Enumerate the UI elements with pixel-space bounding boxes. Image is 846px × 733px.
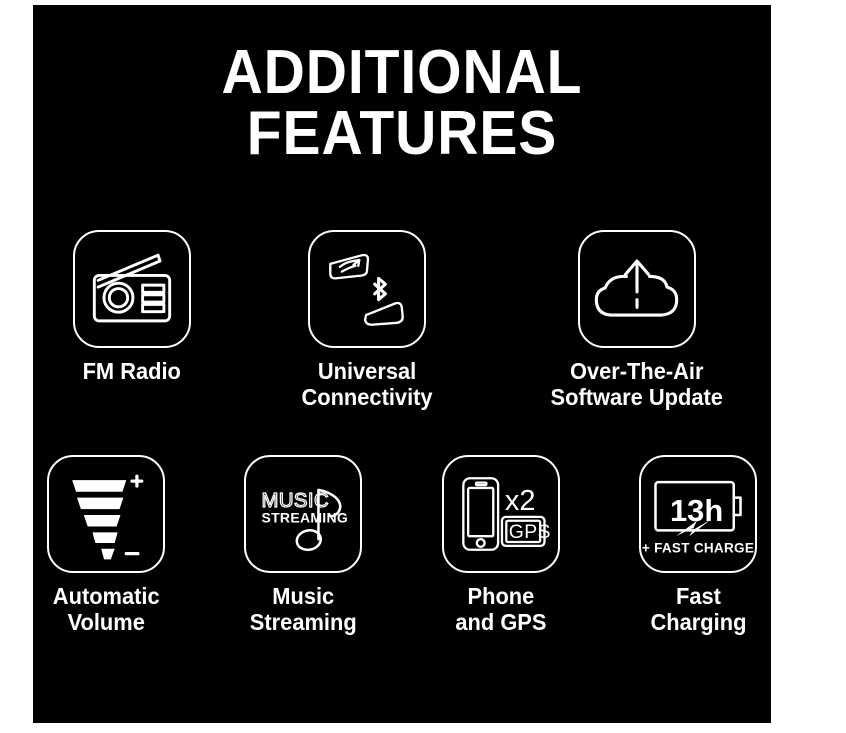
music-streaming-tile[interactable]: MUSIC STREAMING [244, 455, 362, 573]
music-note-icon: MUSIC STREAMING [246, 457, 360, 571]
volume-funnel-icon [49, 457, 163, 571]
fm-radio-icon [75, 232, 189, 346]
page-title: ADDITIONAL FEATURES [63, 43, 742, 165]
fast-charge-text: + FAST CHARGE [642, 541, 754, 556]
feature-label-ota-software-update: Over-The-Air Software Update [551, 359, 723, 411]
bluetooth-universal-connectivity-icon [310, 232, 424, 346]
feature-automatic-volume[interactable]: Automatic Volume [33, 455, 179, 636]
feature-label-fm-radio: FM Radio [83, 359, 181, 385]
phone-gps-label-text: GPS [508, 522, 550, 543]
feature-label-fast-charging: Fast Charging [650, 584, 746, 636]
page-title-line-2: FEATURES [63, 104, 742, 165]
feature-label-universal-connectivity: Universal Connectivity [301, 359, 432, 411]
feature-phone-and-gps[interactable]: x2 GPS Phone and GPS [428, 455, 574, 636]
feature-music-streaming[interactable]: MUSIC STREAMING Music Streaming [231, 455, 377, 636]
feature-fm-radio[interactable]: FM Radio [72, 230, 192, 411]
feature-label-line-2: and GPS [455, 610, 546, 636]
infographic-canvas: ADDITIONAL FEATURES [0, 0, 846, 733]
feature-label-line-2: Volume [52, 610, 159, 636]
universal-connectivity-tile[interactable] [308, 230, 426, 348]
feature-label-automatic-volume: Automatic Volume [52, 584, 159, 636]
feature-universal-connectivity[interactable]: Universal Connectivity [272, 230, 462, 411]
battery-hours-text: 13h [670, 493, 723, 528]
page-title-line-1: ADDITIONAL [63, 43, 742, 104]
feature-label-music-streaming: Music Streaming [250, 584, 357, 636]
feature-label-line-1: Universal [301, 359, 432, 385]
fast-charging-tile[interactable]: 13h + FAST CHARGE [639, 455, 757, 573]
feature-label-line-2: Streaming [250, 610, 357, 636]
feature-label-phone-and-gps: Phone and GPS [455, 584, 546, 636]
feature-row-2: Automatic Volume MUSIC STREAMING [33, 455, 771, 636]
fm-radio-tile[interactable] [73, 230, 191, 348]
music-icon-text-bottom: STREAMING [262, 510, 349, 526]
feature-label-line-1: Over-The-Air [551, 359, 723, 385]
cloud-upload-icon [580, 232, 694, 346]
ota-software-update-tile[interactable] [578, 230, 696, 348]
feature-fast-charging[interactable]: 13h + FAST CHARGE Fast Charging [626, 455, 772, 636]
feature-label-line-1: Fast [650, 584, 746, 610]
phone-gps-icon: x2 GPS [444, 457, 558, 571]
feature-panel: ADDITIONAL FEATURES [33, 5, 771, 723]
feature-label-line-1: FM Radio [83, 359, 181, 385]
feature-label-line-2: Connectivity [301, 385, 432, 411]
feature-label-line-2: Charging [650, 610, 746, 636]
feature-ota-software-update[interactable]: Over-The-Air Software Update [542, 230, 732, 411]
feature-label-line-2: Software Update [551, 385, 723, 411]
feature-label-line-1: Phone [455, 584, 546, 610]
automatic-volume-tile[interactable] [47, 455, 165, 573]
phone-and-gps-tile[interactable]: x2 GPS [442, 455, 560, 573]
feature-label-line-1: Automatic [52, 584, 159, 610]
feature-label-line-1: Music [250, 584, 357, 610]
feature-row-1: FM Radio [33, 230, 771, 411]
phone-gps-multiplier-text: x2 [505, 485, 536, 517]
battery-fast-charge-icon: 13h + FAST CHARGE [641, 457, 755, 571]
